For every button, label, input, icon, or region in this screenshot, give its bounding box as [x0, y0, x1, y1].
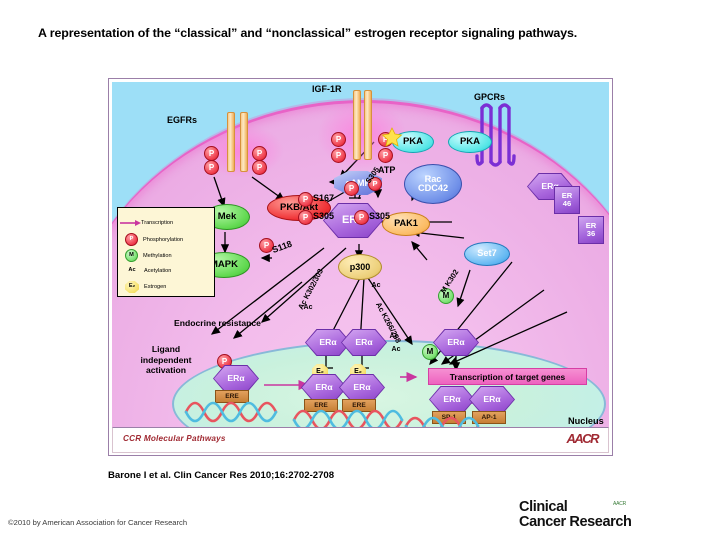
legend-label-phosphorylation: Phosphorylation — [143, 237, 183, 243]
legend-item-acetylation: Ac Acetylation — [125, 265, 171, 277]
legend-label-transcription: Transcription — [141, 220, 173, 226]
figure-frame: Nucleus — [108, 78, 613, 456]
figure-banner: CCR Molecular Pathways AACR — [112, 427, 609, 453]
methylation-icon: M — [125, 249, 138, 262]
figure-legend: Transcription P Phosphorylation M Methyl… — [117, 207, 215, 297]
phosphorylation-icon: P — [125, 233, 138, 246]
transcription-arrow-icon — [125, 217, 136, 228]
banner-label: CCR Molecular Pathways — [123, 434, 226, 443]
legend-label-acetylation: Acetylation — [144, 268, 171, 274]
figure-canvas: Nucleus — [112, 82, 609, 427]
journal-logo-line2: Cancer Research — [519, 515, 632, 530]
acetylation-icon: Ac — [125, 265, 139, 277]
aacr-small-logo-icon: AACR — [613, 501, 626, 507]
legend-label-methylation: Methylation — [143, 253, 172, 259]
legend-item-methylation: M Methylation — [125, 249, 172, 262]
legend-label-estrogen: Estrogen — [144, 284, 166, 290]
figure-citation: Barone I et al. Clin Cancer Res 2010;16:… — [108, 470, 334, 481]
legend-item-estrogen: E₂ Estrogen — [125, 281, 166, 293]
copyright-notice: ©2010 by American Association for Cancer… — [8, 518, 187, 527]
page-title: A representation of the “classical” and … — [38, 26, 688, 40]
aacr-logo-icon: AACR — [566, 431, 598, 446]
legend-item-phosphorylation: P Phosphorylation — [125, 233, 183, 246]
aacr-small-mark: AACR — [613, 501, 626, 507]
legend-item-transcription: Transcription — [125, 217, 173, 228]
estrogen-icon: E₂ — [125, 281, 139, 293]
